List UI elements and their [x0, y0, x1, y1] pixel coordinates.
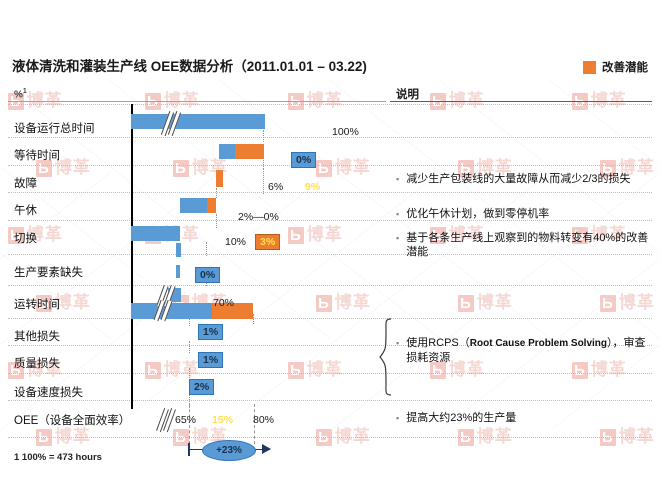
losses-grouping-brace — [378, 318, 394, 396]
bullet-icon: ▪ — [396, 207, 399, 221]
value-label-lunch: 2%—0% — [238, 211, 279, 223]
row-separator — [8, 373, 652, 374]
bar-waiting-potential — [235, 144, 264, 159]
bar-missing-factors-a — [176, 243, 181, 257]
marker-bubble: +23% — [202, 440, 256, 461]
row-label-breakdown: 故障 — [14, 175, 37, 191]
value-label-oee-current: 65% — [175, 414, 196, 426]
bar-total-runtime-current — [131, 114, 265, 129]
value-label-oee-potential: 15% — [212, 414, 233, 426]
marker-cap — [188, 443, 190, 456]
note-changeover: ▪ 基于各条生产线上观察到的物料转变有40%的改善潜能 — [396, 231, 656, 259]
row-label-waiting: 等待时间 — [14, 147, 60, 163]
row-separator — [8, 165, 652, 166]
connector-tick — [206, 242, 207, 256]
value-label-operating-time: 70% — [213, 297, 234, 309]
bar-breakdown-potential — [216, 170, 223, 187]
row-label-other-losses: 其他损失 — [14, 328, 60, 344]
connector-tick — [263, 130, 264, 142]
row-label-changeover: 切换 — [14, 230, 37, 246]
note-rcps: ▪ 使用RCPS（Root Cause Problem Solving），审查损… — [396, 336, 656, 365]
note-text: 减少生产包装线的大量故障从而减少2/3的损失 — [406, 172, 630, 186]
bullet-icon: ▪ — [396, 336, 399, 365]
chart-axis-vertical — [131, 104, 133, 409]
connector-tick — [263, 168, 264, 194]
bullet-icon: ▪ — [396, 172, 399, 186]
bar-lunch-potential — [207, 198, 216, 213]
row-separator — [8, 437, 652, 438]
footnote: 1 100% = 473 hours — [14, 452, 102, 463]
value-label-breakdown-pot: 9% — [305, 181, 320, 193]
bar-lunch-current — [180, 198, 207, 213]
note-text: 优化午休计划，做到零停机率 — [406, 207, 549, 221]
connector-tick — [216, 188, 217, 198]
bar-operating-time-current — [131, 303, 212, 319]
bar-waiting-current — [219, 144, 235, 159]
value-label-changeover-pot: 3% — [255, 234, 280, 250]
improvement-marker: +23% — [188, 440, 272, 459]
note-oee: ▪ 提高大约23%的生产量 — [396, 411, 516, 425]
value-label-changeover: 10% — [225, 236, 246, 248]
row-separator — [8, 285, 652, 286]
row-label-speed-losses: 设备速度损失 — [14, 384, 83, 400]
bar-changeover-current — [131, 226, 180, 241]
row-label-lunch-break: 午休 — [14, 202, 37, 218]
bullet-icon: ▪ — [396, 231, 399, 259]
row-label-quality-losses: 质量损失 — [14, 355, 60, 371]
connector-tick — [189, 318, 190, 326]
row-separator — [8, 318, 652, 319]
value-label-other-losses: 1% — [198, 324, 223, 340]
note-breakdown: ▪ 减少生产包装线的大量故障从而减少2/3的损失 — [396, 172, 631, 186]
note-text: 基于各条生产线上观察到的物料转变有40%的改善潜能 — [406, 231, 656, 259]
connector-tick — [263, 158, 264, 167]
marker-arrow-icon — [262, 444, 271, 454]
connector-tick — [216, 214, 217, 228]
row-separator — [8, 192, 652, 193]
value-label-quality-losses: 1% — [198, 352, 223, 368]
bar-missing-factors-b — [176, 265, 180, 278]
row-label-operating-time: 运转时间 — [14, 296, 60, 312]
row-label-total-runtime: 设备运行总时间 — [14, 120, 95, 136]
value-label-speed-losses: 2% — [189, 379, 214, 395]
row-separator — [8, 220, 652, 221]
connector-tick — [253, 314, 254, 324]
value-label-missing-factors: 0% — [195, 267, 220, 283]
note-rcps-prefix: 使用RCPS（ — [406, 337, 470, 349]
row-separator — [8, 104, 652, 105]
note-lunch: ▪ 优化午休计划，做到零停机率 — [396, 207, 549, 221]
value-label-breakdown: 6% — [268, 181, 283, 193]
value-label-total-runtime: 100% — [332, 126, 359, 138]
note-text: 提高大约23%的生产量 — [406, 411, 516, 425]
bullet-icon: ▪ — [396, 411, 399, 425]
note-rcps-emphasis: Root Cause Problem Solving — [470, 338, 607, 349]
row-separator — [8, 137, 652, 138]
row-separator — [8, 400, 652, 401]
marker-label: +23% — [216, 445, 242, 456]
connector-tick — [189, 341, 190, 353]
row-label-missing-factors: 生产要素缺失 — [14, 264, 83, 280]
value-label-oee-total: 80% — [253, 414, 274, 426]
value-label-waiting: 0% — [291, 152, 316, 168]
row-label-oee: OEE（设备全面效率） — [14, 412, 130, 428]
